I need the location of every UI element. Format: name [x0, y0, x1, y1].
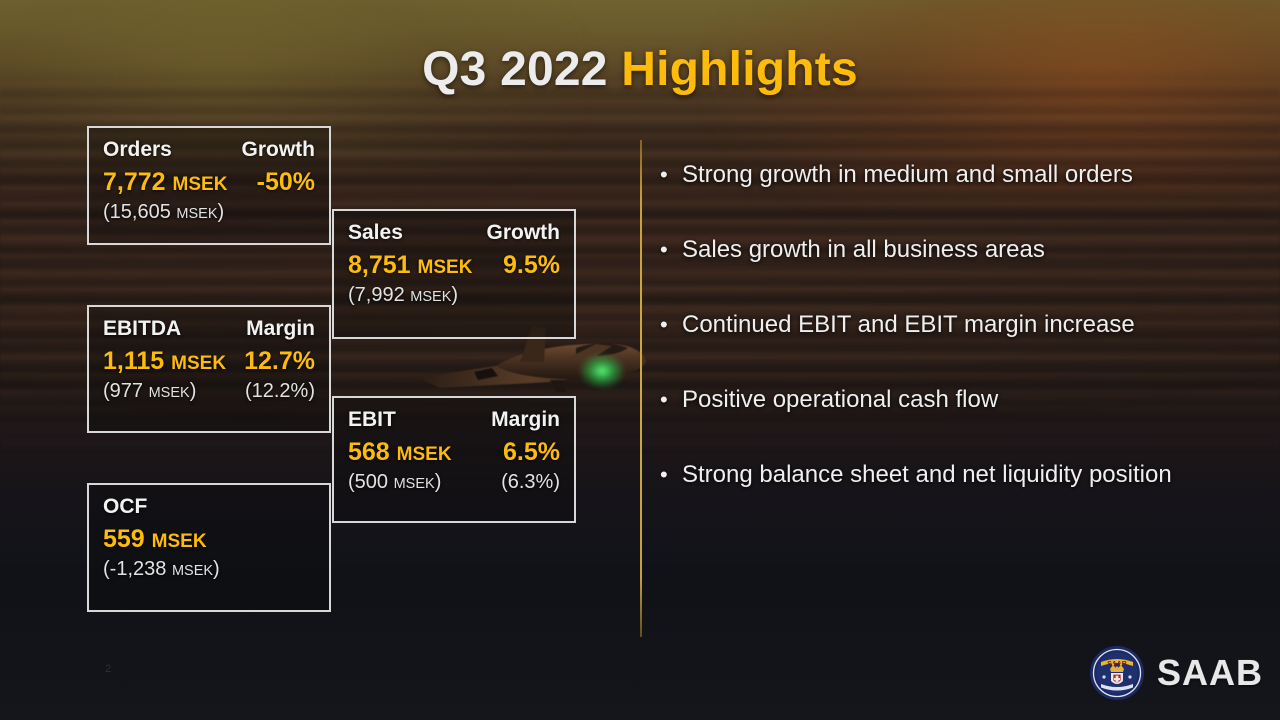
saab-wordmark: SAAB — [1157, 652, 1263, 694]
card-orders-value-unit: MSEK — [173, 174, 228, 195]
card-orders-prior-close: ) — [218, 201, 225, 223]
card-ebit-prior-metric: (6.3%) — [501, 471, 560, 494]
title-primary: Q3 2022 — [422, 43, 608, 96]
card-ocf-prior-close: ) — [213, 558, 220, 580]
card-sales-prior-close: ) — [451, 284, 458, 306]
card-sales-prior: (7,992 MSEK) — [348, 284, 458, 307]
card-ebit-prior: (500 MSEK) — [348, 471, 441, 494]
bullet-marker-icon: • — [660, 160, 682, 190]
title-accent: Highlights — [621, 43, 858, 96]
jet-nav-light-glow — [580, 354, 624, 388]
metric-card-sales[interactable]: Sales Growth 8,751 MSEK 9.5% (7,992 MSEK… — [332, 209, 576, 339]
card-orders-prior-unit: MSEK — [176, 206, 217, 222]
card-sales-metric-label: Growth — [487, 221, 561, 245]
card-ocf-value-number: 559 — [103, 525, 145, 553]
card-ebit-prior-number: (500 — [348, 471, 388, 493]
card-ebit-prior-close: ) — [435, 471, 442, 493]
metric-card-ocf[interactable]: OCF 559 MSEK (-1,238 MSEK) — [87, 483, 331, 612]
bullet-marker-icon: • — [660, 385, 682, 415]
card-ebitda-value-number: 1,115 — [103, 347, 164, 375]
slide-title: Q3 2022 Highlights — [0, 42, 1280, 97]
card-ocf-prior: (-1,238 MSEK) — [103, 558, 220, 581]
metric-card-ebitda[interactable]: EBITDA Margin 1,115 MSEK 12.7% (977 MSEK… — [87, 305, 331, 433]
card-orders-metric-value: -50% — [243, 168, 315, 197]
list-item: • Continued EBIT and EBIT margin increas… — [660, 310, 1260, 385]
card-ebitda-prior-close: ) — [190, 380, 197, 402]
card-sales-value: 8,751 MSEK — [348, 251, 472, 280]
card-sales-label: Sales — [348, 221, 403, 245]
card-sales-value-unit: MSEK — [418, 257, 473, 278]
card-ebitda-value: 1,115 MSEK — [103, 347, 226, 376]
bullet-text: Strong balance sheet and net liquidity p… — [682, 460, 1172, 490]
card-ebitda-prior-number: (977 — [103, 380, 143, 402]
bullet-text: Continued EBIT and EBIT margin increase — [682, 310, 1135, 340]
card-orders-value-number: 7,772 — [103, 168, 166, 196]
bullet-text: Strong growth in medium and small orders — [682, 160, 1133, 190]
card-ebit-metric-label: Margin — [491, 408, 560, 432]
card-ebit-value: 568 MSEK — [348, 438, 452, 467]
saab-crest-icon: SAAB — [1089, 645, 1145, 701]
card-ebitda-label: EBITDA — [103, 317, 181, 341]
slide-root: Q3 2022 Highlights Orders Growth 7,772 M… — [0, 0, 1280, 720]
card-ebitda-prior-unit: MSEK — [149, 385, 190, 401]
card-ebitda-metric-label: Margin — [246, 317, 315, 341]
metric-card-ebit[interactable]: EBIT Margin 568 MSEK 6.5% (500 MSEK) (6.… — [332, 396, 576, 523]
card-sales-metric-value: 9.5% — [489, 251, 560, 280]
list-item: • Positive operational cash flow — [660, 385, 1260, 460]
page-number: 2 — [105, 663, 111, 675]
bullet-text: Sales growth in all business areas — [682, 235, 1045, 265]
card-ebitda-prior: (977 MSEK) — [103, 380, 196, 403]
saab-logo: SAAB SAAB — [1089, 645, 1263, 701]
card-ebitda-value-unit: MSEK — [171, 353, 226, 374]
bullet-marker-icon: • — [660, 310, 682, 340]
metric-card-orders[interactable]: Orders Growth 7,772 MSEK -50% (15,605 MS… — [87, 126, 331, 245]
card-ebit-prior-unit: MSEK — [394, 476, 435, 492]
card-ocf-prior-unit: MSEK — [172, 563, 213, 579]
card-ebitda-metric-value: 12.7% — [230, 347, 315, 376]
card-ebit-metric-value: 6.5% — [489, 438, 560, 467]
card-ebit-value-number: 568 — [348, 438, 390, 466]
card-ocf-value: 559 MSEK — [103, 525, 207, 554]
card-sales-value-number: 8,751 — [348, 251, 411, 279]
bullet-marker-icon: • — [660, 460, 682, 490]
list-item: • Sales growth in all business areas — [660, 235, 1260, 310]
bullet-text: Positive operational cash flow — [682, 385, 998, 415]
card-ocf-label: OCF — [103, 495, 147, 519]
highlights-bullet-list: • Strong growth in medium and small orde… — [660, 160, 1260, 535]
bullet-marker-icon: • — [660, 235, 682, 265]
card-orders-metric-label: Growth — [242, 138, 316, 162]
card-orders-prior: (15,605 MSEK) — [103, 201, 224, 224]
card-sales-prior-unit: MSEK — [410, 289, 451, 305]
list-item: • Strong balance sheet and net liquidity… — [660, 460, 1260, 535]
card-orders-value: 7,772 MSEK — [103, 168, 227, 197]
card-ebitda-prior-metric: (12.2%) — [245, 380, 315, 403]
card-ocf-prior-number: (-1,238 — [103, 558, 166, 580]
vertical-divider — [640, 140, 642, 637]
list-item: • Strong growth in medium and small orde… — [660, 160, 1260, 235]
card-orders-prior-number: (15,605 — [103, 201, 171, 223]
card-sales-prior-number: (7,992 — [348, 284, 405, 306]
card-orders-label: Orders — [103, 138, 172, 162]
card-ebit-label: EBIT — [348, 408, 396, 432]
card-ocf-value-unit: MSEK — [152, 531, 207, 552]
card-ebit-value-unit: MSEK — [397, 444, 452, 465]
